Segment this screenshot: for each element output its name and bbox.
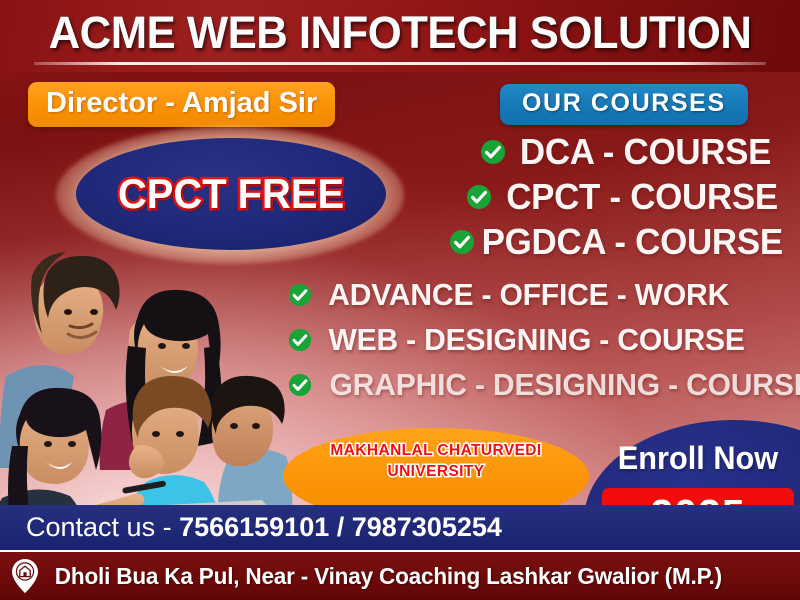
course-label: DCA - COURSE: [520, 132, 771, 172]
check-circle-icon: [480, 139, 506, 165]
title-divider: [34, 62, 766, 65]
course-label: GRAPHIC - DESIGNING - COURSE: [329, 367, 800, 402]
check-circle-icon: [288, 328, 312, 352]
course-row: CPCT - COURSE: [466, 177, 782, 217]
map-pin-icon: [10, 557, 40, 595]
director-badge: Director - Amjad Sir: [28, 82, 335, 127]
page-title: ACME WEB INFOTECH SOLUTION: [12, 6, 788, 60]
our-courses-badge: OUR COURSES: [500, 84, 748, 125]
check-circle-icon: [466, 184, 492, 210]
university-line-1: MAKHANLAL CHATURVEDI: [283, 440, 589, 461]
course-label: WEB - DESIGNING - COURSE: [328, 322, 744, 357]
check-circle-icon: [288, 373, 312, 397]
university-name: MAKHANLAL CHATURVEDI UNIVERSITY: [283, 440, 589, 482]
enroll-now-label: Enroll Now: [604, 440, 792, 476]
advertisement-poster: ACME WEB INFOTECH SOLUTION Director - Am…: [0, 0, 800, 600]
address-text: Dholi Bua Ka Pul, Near - Vinay Coaching …: [55, 563, 722, 590]
course-label: CPCT - COURSE: [506, 177, 778, 217]
course-label: PGDCA - COURSE: [482, 222, 783, 262]
contact-bar: Contact us - 7566159101 / 7987305254: [0, 505, 800, 550]
course-row: DCA - COURSE: [480, 132, 775, 172]
check-circle-icon: [449, 229, 475, 255]
cpct-free-ellipse: CPCT FREE: [76, 138, 386, 250]
course-row: WEB - DESIGNING - COURSE: [288, 322, 751, 357]
contact-text: Contact us - 7566159101 / 7987305254: [26, 512, 502, 543]
contact-numbers[interactable]: 7566159101 / 7987305254: [179, 512, 502, 542]
course-label: ADVANCE - OFFICE - WORK: [328, 277, 729, 312]
university-line-2: UNIVERSITY: [283, 461, 589, 482]
course-row: GRAPHIC - DESIGNING - COURSE: [288, 367, 800, 402]
contact-label: Contact us -: [26, 512, 179, 542]
check-circle-icon: [288, 283, 312, 307]
course-row: ADVANCE - OFFICE - WORK: [288, 277, 735, 312]
cpct-free-label: CPCT FREE: [118, 171, 344, 217]
course-row: PGDCA - COURSE: [449, 222, 787, 262]
address-bar: Dholi Bua Ka Pul, Near - Vinay Coaching …: [0, 550, 800, 600]
